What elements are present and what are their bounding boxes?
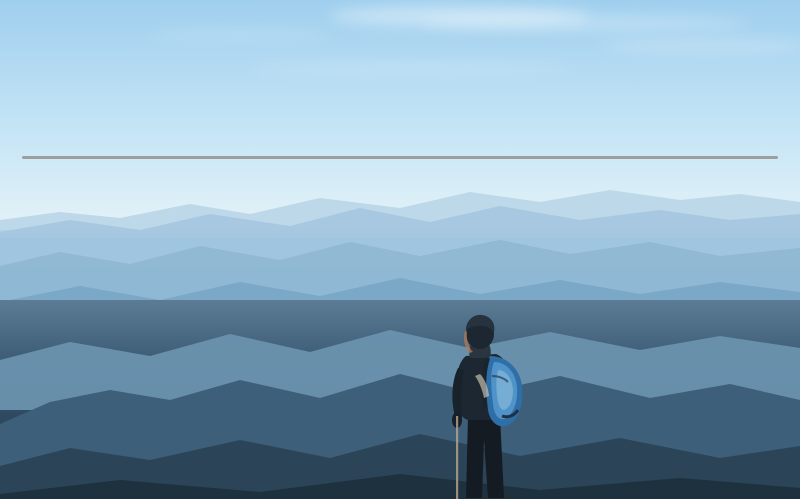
- mountain-ridge-foreground: [0, 328, 800, 499]
- timeline-axis: [22, 156, 778, 159]
- cloud: [420, 16, 750, 30]
- cloud: [250, 60, 570, 76]
- timeline-infographic: [0, 0, 800, 499]
- cloud: [600, 40, 800, 52]
- background-scene: [0, 0, 800, 499]
- cloud: [150, 30, 330, 40]
- hiker-figure: [428, 312, 538, 499]
